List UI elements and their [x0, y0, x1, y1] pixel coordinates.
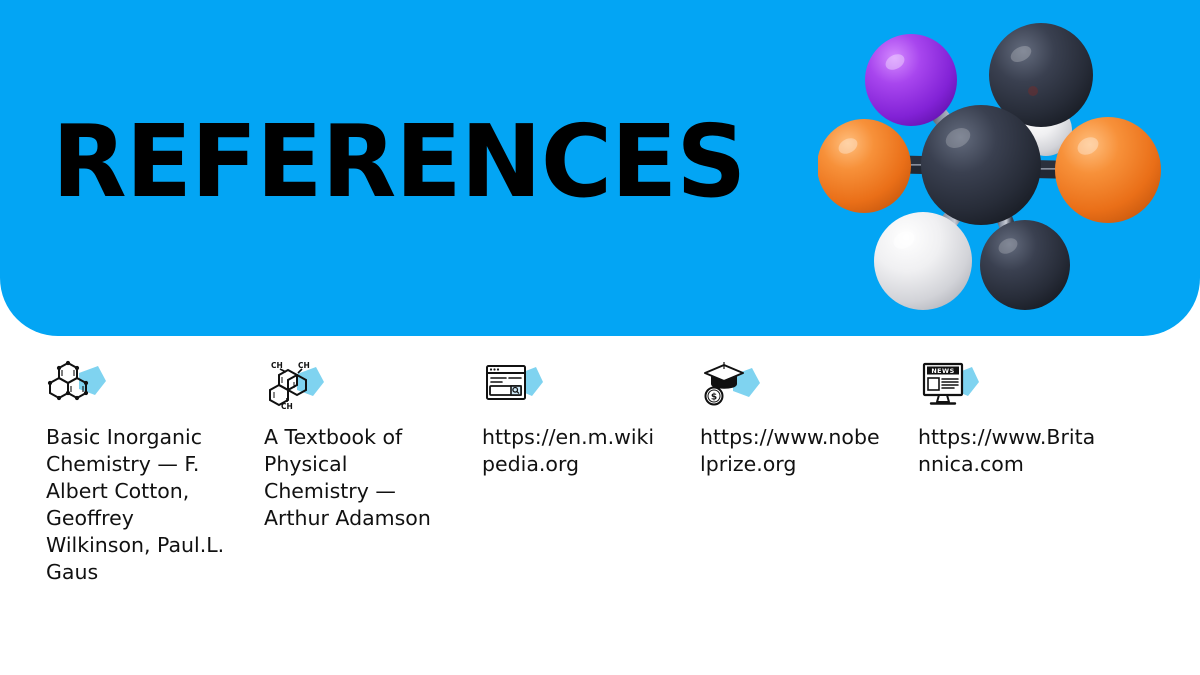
reference-item-3[interactable]: https://en.m.wikipedia.org: [482, 360, 700, 478]
svg-text:CH: CH: [281, 402, 293, 410]
reference-item-2[interactable]: CH CH CH A Textbook of Physical Chemistr…: [264, 360, 482, 532]
atom-dark-top: [989, 23, 1093, 127]
svg-text:CH: CH: [298, 361, 310, 370]
reference-text: https://www.Britannica.com: [918, 424, 1100, 478]
reference-text: Basic Inorganic Chemistry — F. Albert Co…: [46, 424, 242, 586]
news-monitor-icon: NEWS: [918, 360, 980, 410]
atom-orange-right: [1055, 117, 1161, 223]
reference-text: A Textbook of Physical Chemistry — Arthu…: [264, 424, 446, 532]
browser-search-icon: [482, 360, 544, 410]
references-row: Basic Inorganic Chemistry — F. Albert Co…: [46, 360, 1156, 586]
reference-item-5[interactable]: NEWS https://www.Britannica.com: [918, 360, 1136, 478]
references-slide: REFERENCES: [0, 0, 1200, 675]
molecule-rings-icon: [46, 360, 108, 410]
atom-white-bottom: [874, 212, 972, 310]
molecule-illustration: [818, 18, 1162, 320]
chemical-structure-ch-icon: CH CH CH: [264, 360, 326, 410]
reference-item-1[interactable]: Basic Inorganic Chemistry — F. Albert Co…: [46, 360, 264, 586]
atom-central: [921, 105, 1041, 225]
atom-orange-left: [818, 119, 911, 213]
page-title: REFERENCES: [52, 112, 745, 212]
atom-dark-bottom: [980, 220, 1070, 310]
atom-white-hidden: [1020, 104, 1072, 156]
svg-text:NEWS: NEWS: [931, 367, 954, 375]
reference-text: https://www.nobelprize.org: [700, 424, 882, 478]
svg-text:$: $: [711, 393, 717, 403]
hero-panel: REFERENCES: [0, 0, 1200, 336]
reference-text: https://en.m.wikipedia.org: [482, 424, 664, 478]
reference-item-4[interactable]: $ https://www.nobelprize.org: [700, 360, 918, 478]
graduation-cap-prize-icon: $: [700, 360, 762, 410]
atom-purple: [865, 34, 957, 126]
